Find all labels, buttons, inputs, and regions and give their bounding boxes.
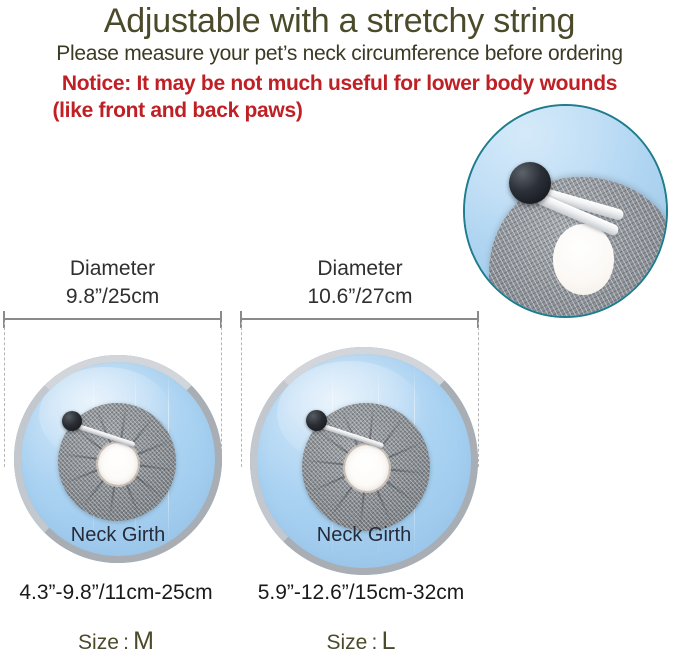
diameter-value-m: 9.8”/25cm	[0, 283, 225, 311]
size-prefix-l: Size :	[326, 631, 381, 654]
toggle-closure-detail-inset	[463, 104, 668, 318]
guide-line-l-left	[241, 322, 242, 467]
dimension-line-m	[3, 318, 222, 320]
diameter-value-l: 10.6”/27cm	[240, 283, 480, 311]
neck-girth-label-m: Neck Girth	[14, 524, 222, 547]
neck-girth-label-l: Neck Girth	[250, 524, 478, 547]
cord-toggle-m	[62, 411, 82, 431]
notice-line-1: Notice: It may be not much useful for lo…	[0, 70, 679, 97]
neck-girth-range-m: 4.3”-9.8”/11cm-25cm	[0, 581, 232, 605]
size-chart-infographic: Adjustable with a stretchy string Please…	[0, 0, 679, 661]
size-label-m: Size : M	[0, 627, 232, 656]
neck-opening-l	[345, 445, 389, 491]
diameter-caption-l: Diameter	[240, 255, 480, 283]
dimension-line-l	[240, 318, 479, 320]
guide-line-l-right	[478, 322, 479, 467]
size-label-l: Size : L	[238, 627, 484, 656]
notice-line-2-text: (like front and back paws)	[52, 97, 302, 124]
measurement-instruction: Please measure your pet’s neck circumfer…	[0, 41, 679, 67]
neck-opening-m	[98, 443, 138, 485]
guide-line-m-left	[4, 322, 5, 467]
page-title: Adjustable with a stretchy string	[0, 2, 679, 40]
size-letter-l: L	[382, 627, 396, 655]
notice-line-1-text: Notice: It may be not much useful for lo…	[62, 70, 617, 97]
diameter-caption-m: Diameter	[0, 255, 225, 283]
inset-neck-opening	[553, 224, 613, 295]
neck-girth-range-l: 5.9”-12.6”/15cm-32cm	[238, 581, 484, 605]
cord-toggle-l	[306, 410, 327, 431]
size-letter-m: M	[133, 627, 154, 655]
size-prefix-m: Size :	[78, 631, 133, 654]
inset-cord-toggle	[509, 162, 551, 204]
